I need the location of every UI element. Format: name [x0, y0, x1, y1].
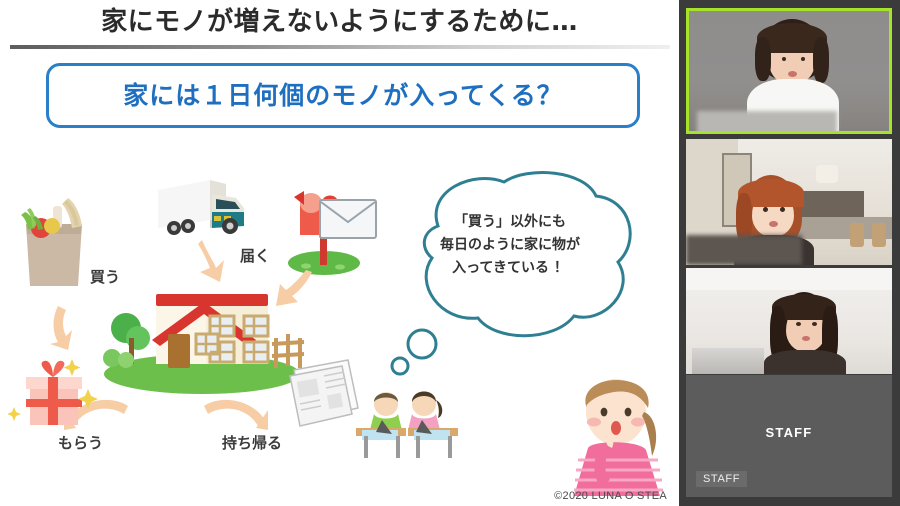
video-feed-1 [689, 11, 889, 131]
speech-bubble-line-2: 毎日のように家に物が [400, 234, 620, 257]
students-desk-icon [352, 382, 462, 460]
label-bring-home: 持ち帰る [222, 432, 282, 453]
speech-bubble-text: 「買う」以外にも 毎日のように家に物が 入ってきている ！ [400, 211, 620, 280]
video-tile-participant-3[interactable] [686, 268, 892, 374]
label-deliver: 届く [240, 245, 270, 266]
question-box: 家には１日何個のモノが入ってくる？ [46, 63, 640, 128]
participant-name-badge: STAFF [696, 471, 747, 487]
envelope-icon [318, 196, 378, 242]
video-feed-2 [686, 139, 892, 265]
participant-name-center: STAFF [686, 425, 892, 440]
page-title: 家にモノが増えないようにするために… [0, 2, 679, 42]
video-feed-3 [686, 268, 892, 374]
speech-bubble-line-1: 「買う」以外にも [400, 211, 620, 234]
question-box-label: 家には１日何個のモノが入ってくる？ [49, 66, 637, 125]
video-tile-participant-staff[interactable]: STAFF STAFF [686, 375, 892, 497]
copyright-text: ©2020 LUNA O STEA [554, 490, 667, 502]
grocery-bag-icon [8, 190, 100, 290]
arrow-icon [48, 300, 94, 352]
speech-bubble-line-3: 入ってきている ！ [400, 257, 620, 280]
shared-slide: 家にモノが増えないようにするために… 家には１日何個のモノが入ってくる？ 買う [0, 0, 679, 506]
thinking-woman-icon [564, 360, 674, 500]
label-receive: もらう [58, 432, 103, 453]
video-participant-panel[interactable]: STAFF STAFF [679, 0, 900, 506]
title-divider [10, 45, 670, 49]
arrow-icon [200, 392, 270, 432]
video-tile-participant-2[interactable] [686, 139, 892, 265]
video-tile-participant-1[interactable] [686, 8, 892, 134]
gift-box-icon [8, 355, 98, 433]
house-icon [96, 272, 311, 396]
slide-title-bar: 家にモノが増えないようにするために… [0, 0, 679, 46]
meeting-screen: 家にモノが増えないようにするために… 家には１日何個のモノが入ってくる？ 買う [0, 0, 900, 506]
